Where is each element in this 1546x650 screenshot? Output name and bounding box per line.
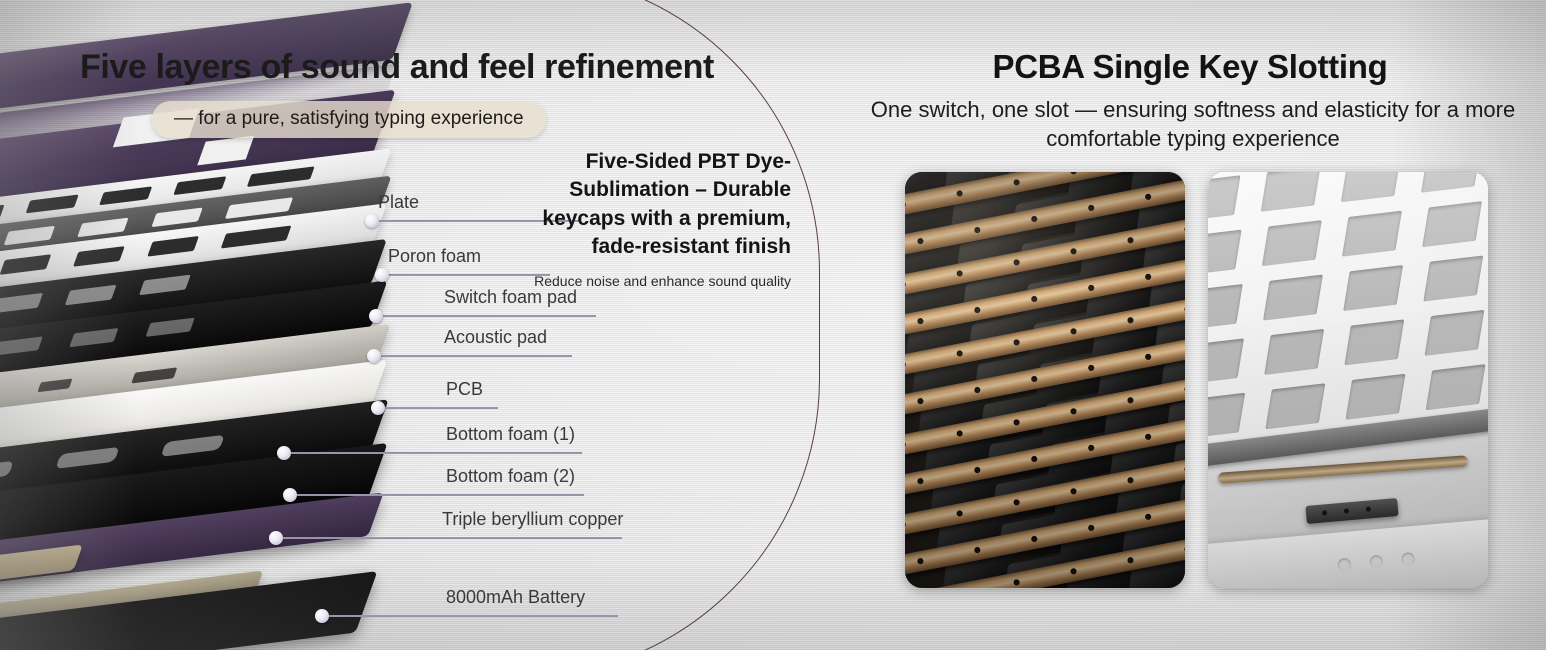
callout-label: Plate	[378, 192, 419, 213]
callout-label: Bottom foam (2)	[446, 466, 575, 487]
callout-marker-dot	[371, 401, 385, 415]
right-panel-title: PCBA Single Key Slotting	[860, 48, 1520, 86]
photo-card-pcb-slotting[interactable]	[905, 172, 1185, 588]
callout-bottom-foam-2: Bottom foam (2)	[296, 462, 584, 496]
leader-line	[382, 315, 596, 317]
callout-pcb: PCB	[384, 375, 498, 409]
callout-bottom-foam-1: Bottom foam (1)	[290, 420, 582, 454]
leader-line	[296, 494, 584, 496]
leader-line	[290, 452, 582, 454]
photo-card-plate-slot[interactable]	[1208, 172, 1488, 588]
leader-line	[282, 537, 622, 539]
leader-line	[380, 355, 572, 357]
callout-marker-dot	[375, 268, 389, 282]
callout-label: 8000mAh Battery	[446, 587, 585, 608]
callout-label: PCB	[446, 379, 483, 400]
callout-label: Acoustic pad	[444, 327, 547, 348]
photo-highlight-overlay	[1208, 172, 1488, 588]
callout-label: Triple beryllium copper	[442, 509, 623, 530]
callout-acoustic-pad: Acoustic pad	[380, 323, 572, 357]
callout-marker-dot	[367, 349, 381, 363]
callout-triple-beryllium-copper: Triple beryllium copper	[282, 505, 622, 539]
callout-label: Bottom foam (1)	[446, 424, 575, 445]
leader-line	[328, 615, 618, 617]
feature-panel: Five layers of sound and feel refinement…	[0, 0, 1546, 650]
callout-label: Poron foam	[388, 246, 481, 267]
photo-card-group	[900, 172, 1500, 588]
pbt-subtext: Reduce noise and enhance sound quality	[491, 272, 791, 291]
callout-marker-dot	[365, 214, 379, 228]
callout-marker-dot	[369, 309, 383, 323]
callout-battery: 8000mAh Battery	[328, 583, 618, 617]
callout-marker-dot	[277, 446, 291, 460]
callout-marker-dot	[269, 531, 283, 545]
callout-marker-dot	[315, 609, 329, 623]
right-panel-subtitle: One switch, one slot — ensuring softness…	[860, 96, 1526, 153]
callout-list: Plate Poron foam Switch foam pad Acousti…	[0, 0, 780, 650]
callout-marker-dot	[283, 488, 297, 502]
pbt-headline: Five-Sided PBT Dye-Sublimation – Durable…	[491, 148, 791, 261]
pbt-keycap-block: Five-Sided PBT Dye-Sublimation – Durable…	[491, 148, 791, 291]
photo-highlight-overlay	[905, 172, 1185, 588]
leader-line	[384, 407, 498, 409]
